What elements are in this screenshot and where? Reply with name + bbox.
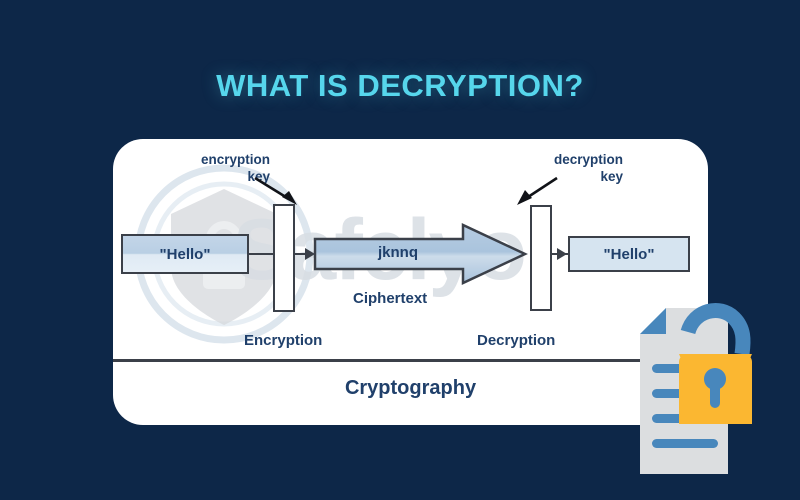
connector-line-1: [249, 253, 275, 255]
page-title: WHAT IS DECRYPTION?: [0, 68, 800, 104]
encryption-key-bar: [273, 204, 295, 312]
cryptography-title: Cryptography: [113, 377, 708, 400]
decryption-key-bar: [530, 205, 552, 311]
open-padlock-with-document-icon: [628, 296, 778, 486]
encryption-key-label-line1: encryption: [170, 151, 270, 168]
decryption-stage-label: Decryption: [477, 332, 555, 349]
arrowhead-to-plaintext-icon: [557, 248, 567, 260]
encryption-stage-label: Encryption: [244, 332, 322, 349]
screenshot-root: WHAT IS DECRYPTION? Safelyo encryption k…: [0, 0, 800, 500]
ciphertext-caption: Ciphertext: [353, 290, 427, 307]
ciphertext-value: jknnq: [313, 244, 483, 261]
plaintext-input-box: "Hello": [121, 234, 249, 274]
cryptography-diagram: encryption key decryption key "Hello": [113, 139, 708, 425]
decrypted-plaintext-box: "Hello": [568, 236, 690, 272]
decryption-key-label-line1: decryption: [513, 151, 623, 168]
decryption-key-pointer-arrow-icon: [511, 175, 561, 209]
diagram-card: Safelyo encryption key decryption key: [113, 139, 708, 425]
section-divider: [113, 359, 708, 362]
